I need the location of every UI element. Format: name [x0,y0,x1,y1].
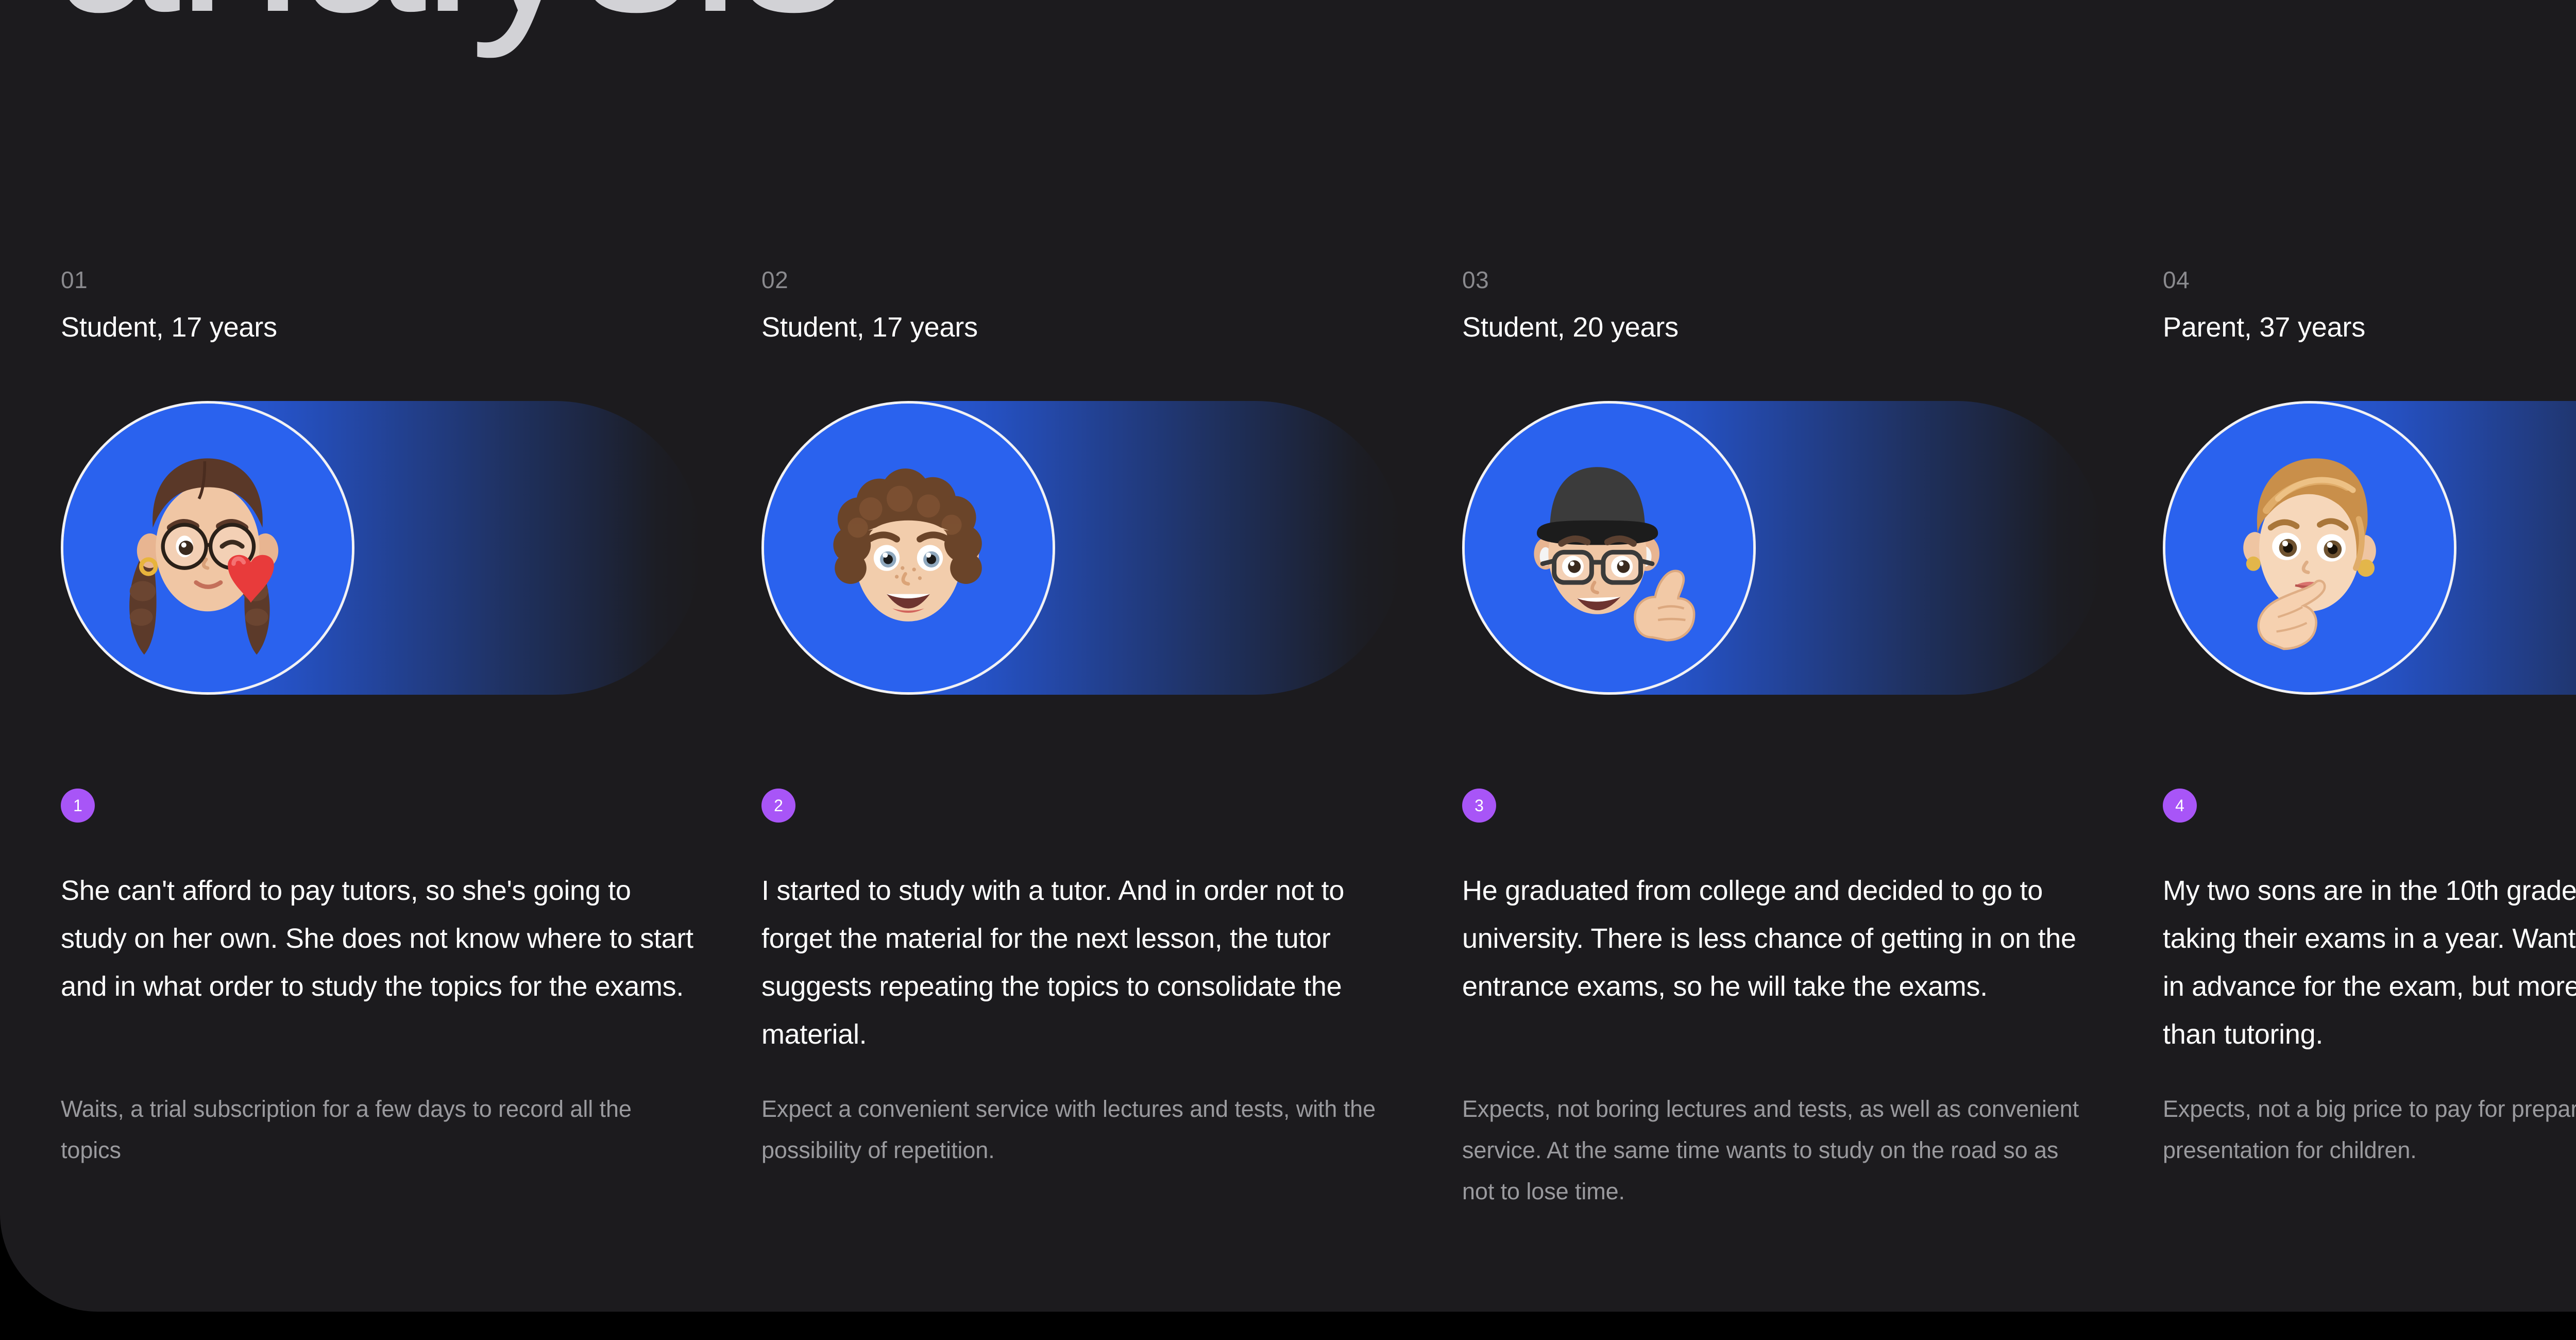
persona-quote: My two sons are in the 10th grade. They … [2163,867,2576,1059]
persona-index: 02 [761,268,788,292]
persona-quote: I started to study with a tutor. And in … [761,867,1395,1059]
persona-card: 04 Parent, 37 years [2102,0,2576,1312]
persona-quote: He graduated from college and decided to… [1462,867,2096,1011]
persona-badge: 1 [61,789,95,823]
persona-expectation: Waits, a trial subscription for a few da… [61,1088,694,1171]
persona-analysis-page: analysis 01 Student, 17 years [0,0,2576,1312]
persona-card: 02 Student, 17 years [701,0,1401,1312]
persona-badge: 3 [1462,789,1496,823]
persona-columns: 01 Student, 17 years [0,0,2576,1312]
memoji-boy-curly-hair-smiling-avatar [761,401,1055,695]
persona-index: 01 [61,268,88,292]
avatar-pill [761,401,1400,695]
avatar-pill [2163,401,2576,695]
persona-quote: She can't afford to pay tutors, so she's… [61,867,694,1011]
persona-role: Student, 20 years [1462,313,1679,341]
persona-role: Student, 17 years [61,313,277,341]
persona-expectation: Expect a convenient service with lecture… [761,1088,1395,1171]
persona-index: 04 [2163,268,2190,292]
persona-card: 03 Student, 20 years [1401,0,2102,1312]
persona-expectation: Expects, not boring lectures and tests, … [1462,1088,2096,1212]
memoji-girl-glasses-braids-heart-avatar [61,401,354,695]
avatar-pill [1462,401,2101,695]
persona-badge: 4 [2163,789,2197,823]
memoji-boy-cap-glasses-thumbs-up-avatar [1462,401,1756,695]
persona-expectation: Expects, not a big price to pay for prep… [2163,1088,2576,1171]
persona-role: Student, 17 years [761,313,978,341]
memoji-woman-blonde-updo-thinking-avatar [2163,401,2456,695]
persona-badge: 2 [761,789,795,823]
persona-card: 01 Student, 17 years [0,0,701,1312]
avatar-pill [61,401,700,695]
persona-role: Parent, 37 years [2163,313,2365,341]
persona-index: 03 [1462,268,1489,292]
